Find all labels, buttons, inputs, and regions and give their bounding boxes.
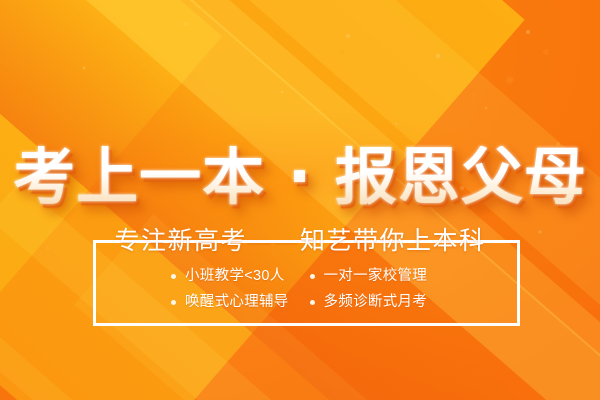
feature-label: 多频诊断式月考 [324,292,428,312]
subtitle-row: 专注新高考——知艺带你上本科 [0,227,600,255]
list-item: 唤醒式心理辅导 [171,292,310,312]
feature-label: 一对一家校管理 [324,266,428,286]
feature-list: 小班教学<30人 一对一家校管理 唤醒式心理辅导 多频诊断式月考 [93,266,520,312]
bullet-dot-icon [310,300,315,305]
headline-text: 考上一本 · 报恩父母 [13,146,587,208]
feature-label: 小班教学<30人 [185,266,285,286]
subtitle-text: 专注新高考——知艺带你上本科 [102,227,497,255]
list-item: 多频诊断式月考 [310,292,449,312]
list-item: 小班教学<30人 [171,266,310,286]
list-item: 一对一家校管理 [310,266,449,286]
feature-label: 唤醒式心理辅导 [185,292,289,312]
bullet-dot-icon [171,274,176,279]
bullet-dot-icon [310,274,315,279]
promo-banner: 考上一本 · 报恩父母 专注新高考——知艺带你上本科 小班教学<30人 一对一家… [0,0,600,400]
headline-row: 考上一本 · 报恩父母 [0,137,600,217]
bullet-dot-icon [171,300,176,305]
